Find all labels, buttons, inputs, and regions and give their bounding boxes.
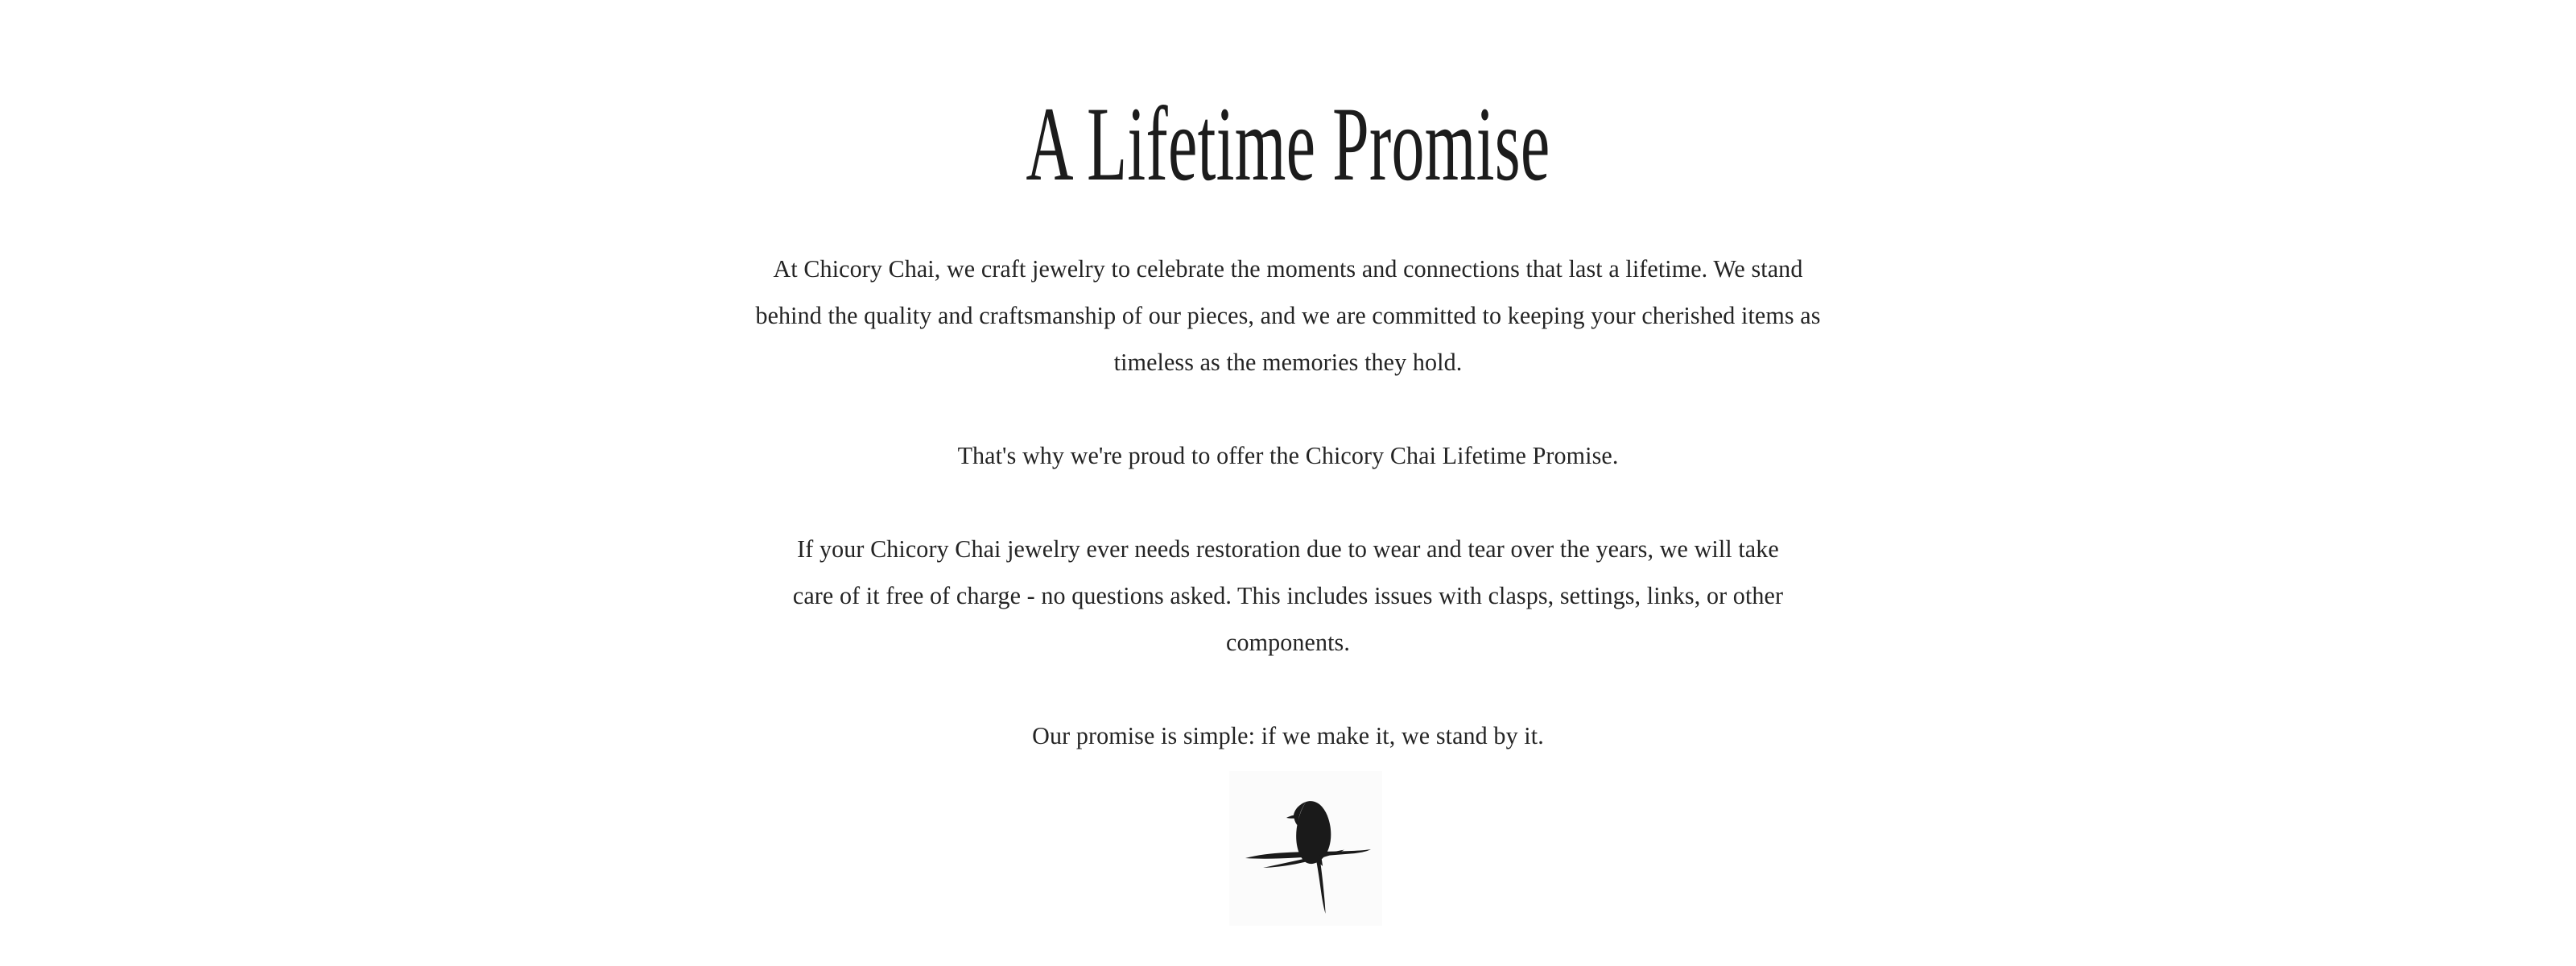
promise-paragraph-closing: Our promise is simple: if we make it, we… (625, 712, 1952, 759)
promise-body: At Chicory Chai, we craft jewelry to cel… (459, 246, 2117, 759)
promise-paragraph-intro: At Chicory Chai, we craft jewelry to cel… (741, 246, 1835, 386)
promise-page: A Lifetime Promise At Chicory Chai, we c… (0, 0, 2576, 966)
content-container: A Lifetime Promise At Chicory Chai, we c… (459, 0, 2117, 759)
promise-paragraph-offer: That's why we're proud to offer the Chic… (625, 432, 1952, 479)
page-title: A Lifetime Promise (774, 0, 1802, 202)
brand-logo (1229, 771, 1382, 926)
bird-on-branch-icon (1229, 771, 1382, 926)
promise-paragraph-restoration: If your Chicory Chai jewelry ever needs … (781, 526, 1796, 666)
